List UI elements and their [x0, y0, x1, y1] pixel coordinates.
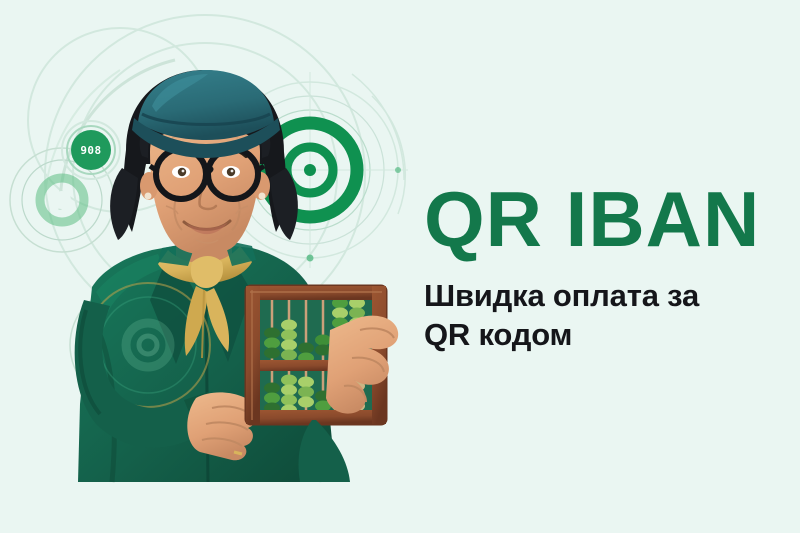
hat: [132, 70, 280, 158]
headline-block: QR IBAN Швидка оплата за QR кодом: [424, 186, 776, 354]
subtitle-line-1: Швидка оплата за: [424, 278, 699, 313]
qr-iban-banner: 908: [0, 0, 800, 533]
page-subtitle: Швидка оплата за QR кодом: [424, 277, 754, 354]
woman-with-abacus-illustration: [0, 0, 420, 533]
earring: [259, 193, 266, 200]
subtitle-line-2: QR кодом: [424, 317, 572, 352]
page-title: QR IBAN: [424, 186, 776, 253]
earring: [145, 193, 152, 200]
